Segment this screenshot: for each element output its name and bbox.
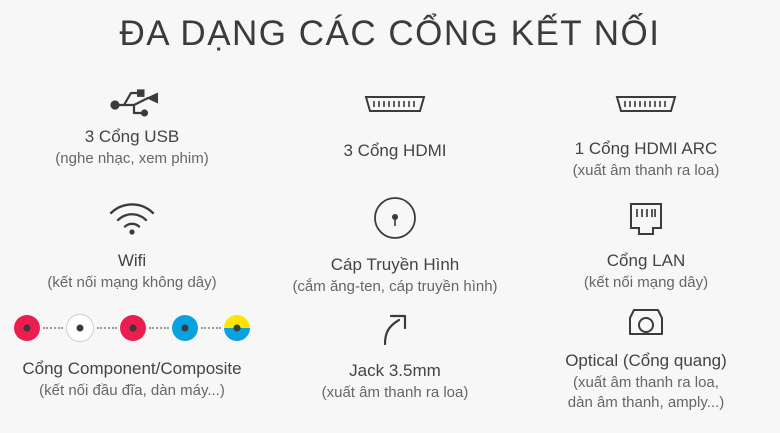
feature-usb: 3 Cổng USB (nghe nhạc, xem phim) (2, 78, 262, 169)
feature-component: Cổng Component/Composite (kết nối đầu đĩ… (2, 306, 262, 401)
feature-sublabel: (xuất âm thanh ra loa, dàn âm thanh, amp… (516, 373, 776, 412)
feature-sublabel: (kết nối đầu đĩa, dàn máy...) (2, 381, 262, 401)
feature-label: 1 Cổng HDMI ARC (516, 138, 776, 159)
feature-sublabel: (cắm ăng-ten, cáp truyền hình) (265, 277, 525, 297)
feature-label: Cổng LAN (516, 250, 776, 271)
page-title: ĐA DẠNG CÁC CỔNG KẾT NỐI (0, 14, 780, 54)
rca-connectors-icon (2, 306, 262, 350)
feature-optical: Optical (Cổng quang) (xuất âm thanh ra l… (516, 298, 776, 412)
connector-dash (97, 327, 117, 329)
feature-hdmi: 3 Cổng HDMI (265, 82, 525, 163)
feature-label: Wifi (2, 250, 262, 271)
feature-label: Cổng Component/Composite (2, 358, 262, 379)
headphone-jack-arrow-icon (265, 306, 525, 354)
feature-lan: Cổng LAN (kết nối mạng dây) (516, 194, 776, 293)
feature-label: 3 Cổng HDMI (265, 140, 525, 161)
feature-wifi: Wifi (kết nối mạng không dây) (2, 196, 262, 293)
feature-label: Optical (Cổng quang) (516, 350, 776, 371)
feature-jack: Jack 3.5mm (xuất âm thanh ra loa) (265, 306, 525, 403)
connector-dash (43, 327, 63, 329)
usb-icon (2, 78, 262, 122)
feature-sublabel: (xuất âm thanh ra loa) (265, 383, 525, 403)
connector-dash (201, 327, 221, 329)
rca-dot-white (66, 314, 94, 342)
feature-hdmi-arc: 1 Cổng HDMI ARC (xuất âm thanh ra loa) (516, 82, 776, 181)
rca-dot-yellow-blue (224, 315, 250, 341)
feature-sublabel: (xuất âm thanh ra loa) (516, 161, 776, 181)
feature-label: 3 Cổng USB (2, 126, 262, 147)
rca-dot-blue (172, 315, 198, 341)
feature-sublabel: (kết nối mạng dây) (516, 273, 776, 293)
ethernet-lan-icon (516, 194, 776, 244)
connector-dash (149, 327, 169, 329)
feature-sublabel: (kết nối mạng không dây) (2, 273, 262, 293)
coaxial-antenna-icon (265, 190, 525, 246)
feature-sublabel: (nghe nhạc, xem phim) (2, 149, 262, 169)
rca-dot-red-2 (120, 315, 146, 341)
feature-cable: Cáp Truyền Hình (cắm ăng-ten, cáp truyền… (265, 190, 525, 297)
hdmi-port-icon (516, 82, 776, 126)
hdmi-port-icon (265, 82, 525, 126)
wifi-icon (2, 196, 262, 240)
feature-label: Cáp Truyền Hình (265, 254, 525, 275)
optical-port-icon (516, 298, 776, 346)
feature-label: Jack 3.5mm (265, 360, 525, 381)
rca-dot-red (14, 315, 40, 341)
